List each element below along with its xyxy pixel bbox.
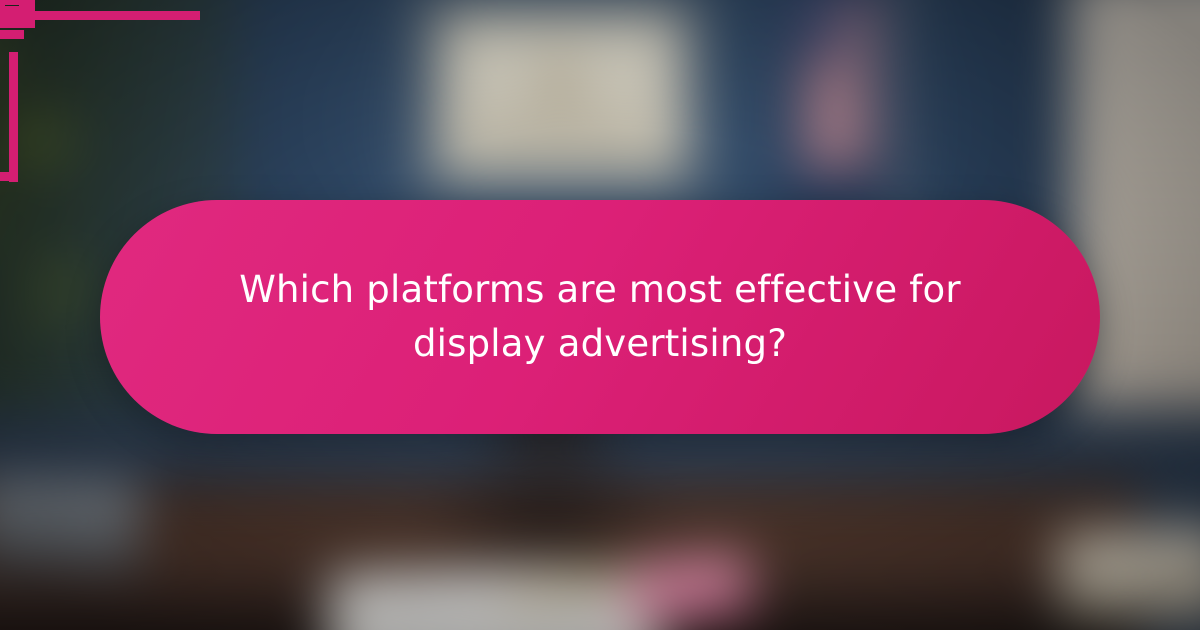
ornament-line	[9, 52, 18, 182]
share-card: Which platforms are most effective for d…	[0, 0, 1200, 630]
page-title: Which platforms are most effective for d…	[210, 263, 990, 370]
title-pill: Which platforms are most effective for d…	[100, 200, 1100, 434]
ornament-line	[0, 172, 18, 181]
ornament-line	[26, 0, 35, 28]
ornament-bottom-left	[0, 0, 28, 28]
ornament-line	[0, 30, 24, 39]
